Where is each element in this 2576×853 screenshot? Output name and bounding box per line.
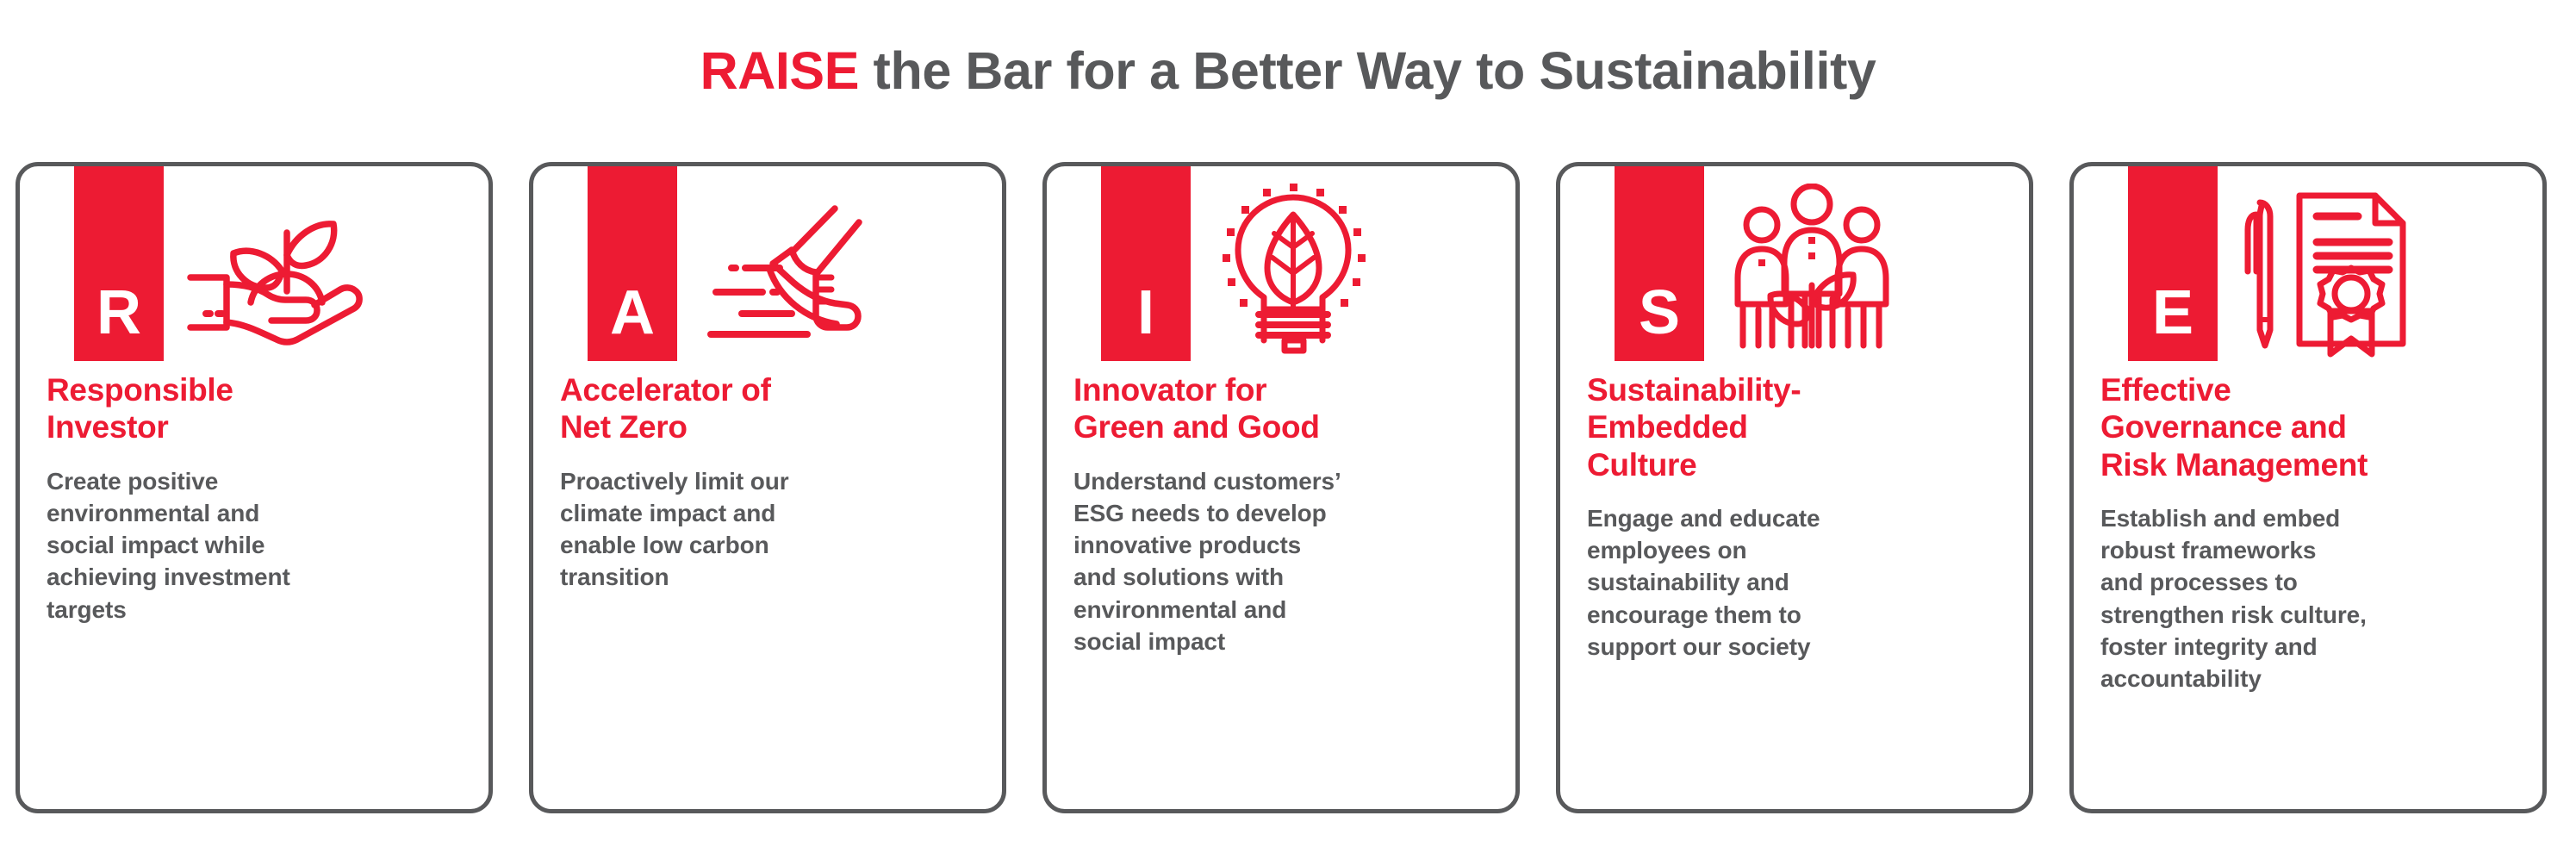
hand-holding-sprout-icon bbox=[177, 178, 392, 361]
card-letter: R bbox=[96, 282, 141, 344]
letter-band-a: A bbox=[588, 162, 677, 361]
card-accelerator-of-net-zero[interactable]: A bbox=[529, 162, 1006, 813]
card-innovator-for-green-and-good[interactable]: I bbox=[1042, 162, 1520, 813]
card-description: Understand customers’ ESG needs to devel… bbox=[1073, 465, 1496, 657]
pen-certificate-seal-icon bbox=[2231, 178, 2446, 361]
lightbulb-leaf-icon bbox=[1204, 178, 1419, 361]
card-responsible-investor[interactable]: R bbox=[16, 162, 493, 813]
card-text-block: Effective Governance and Risk Management… bbox=[2100, 371, 2523, 694]
card-letter: A bbox=[610, 282, 655, 344]
letter-band-e: E bbox=[2128, 162, 2218, 361]
page-title-accent: RAISE bbox=[700, 41, 859, 100]
card-description: Engage and educate employees on sustaina… bbox=[1587, 502, 2010, 663]
card-text-block: Accelerator of Net Zero Proactively limi… bbox=[560, 371, 983, 594]
card-letter: I bbox=[1137, 282, 1154, 344]
card-sustainability-embedded-culture[interactable]: S bbox=[1556, 162, 2033, 813]
page-title-rest: the Bar for a Better Way to Sustainabili… bbox=[859, 41, 1876, 100]
card-heading: Sustainability- Embedded Culture bbox=[1587, 371, 2010, 483]
card-grid: R bbox=[16, 162, 2560, 813]
card-heading: Accelerator of Net Zero bbox=[560, 371, 983, 446]
card-letter: E bbox=[2152, 282, 2193, 344]
letter-band-s: S bbox=[1615, 162, 1704, 361]
letter-band-i: I bbox=[1101, 162, 1191, 361]
card-description: Create positive environmental and social… bbox=[47, 465, 470, 626]
people-group-plant-icon bbox=[1717, 178, 1932, 361]
card-heading: Innovator for Green and Good bbox=[1073, 371, 1496, 446]
card-effective-governance-risk-management[interactable]: E bbox=[2069, 162, 2547, 813]
card-letter: S bbox=[1639, 282, 1680, 344]
card-text-block: Sustainability- Embedded Culture Engage … bbox=[1587, 371, 2010, 663]
card-description: Establish and embed robust frameworks an… bbox=[2100, 502, 2523, 694]
infographic-page: RAISE the Bar for a Better Way to Sustai… bbox=[0, 0, 2576, 853]
card-heading: Effective Governance and Risk Management bbox=[2100, 371, 2523, 483]
card-heading: Responsible Investor bbox=[47, 371, 470, 446]
card-text-block: Responsible Investor Create positive env… bbox=[47, 371, 470, 626]
card-text-block: Innovator for Green and Good Understand … bbox=[1073, 371, 1496, 657]
page-title: RAISE the Bar for a Better Way to Sustai… bbox=[0, 45, 2576, 97]
letter-band-r: R bbox=[74, 162, 164, 361]
card-description: Proactively limit our climate impact and… bbox=[560, 465, 983, 594]
running-shoe-speed-icon bbox=[690, 178, 905, 361]
